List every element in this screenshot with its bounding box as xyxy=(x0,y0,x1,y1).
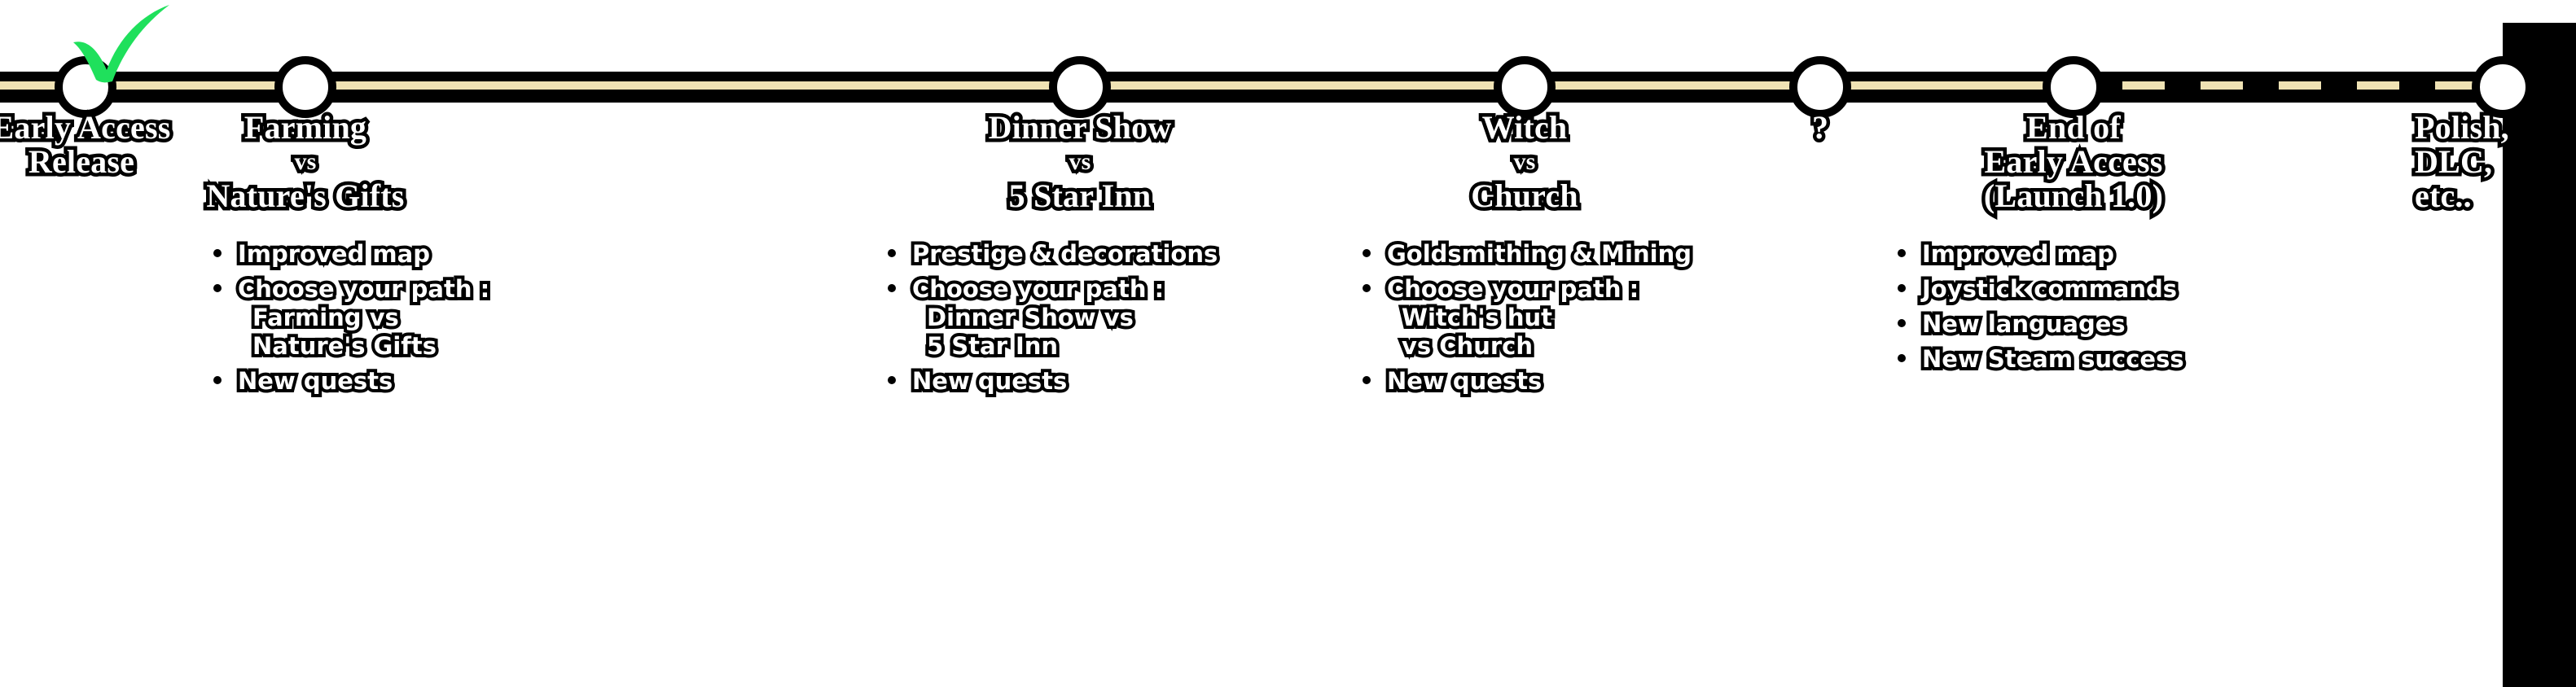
milestone-column-witch-vs-church: Witch vs Church xyxy=(1406,111,1643,213)
list-item-label: Choose your path : xyxy=(1387,275,1639,303)
milestone-bullets-witch-vs-church: Goldsmithing & Mining Choose your path :… xyxy=(1363,240,1692,402)
milestone-title-line: Witch xyxy=(1482,109,1568,146)
list-item-label: New quests xyxy=(238,367,393,395)
list-item-label: Prestige & decorations xyxy=(912,240,1218,268)
milestone-vs-label: vs xyxy=(962,145,1198,179)
list-item: New quests xyxy=(1363,367,1692,396)
bullet-icon xyxy=(213,284,222,292)
bullet-icon xyxy=(1898,354,1906,362)
milestone-bullets-dinner-show-vs-5-star-inn: Prestige & decorations Choose your path … xyxy=(888,240,1218,402)
milestone-title-unknown: ? xyxy=(1702,111,1938,145)
list-item: Goldsmithing & Mining xyxy=(1363,240,1692,269)
milestone-title-line: 5 Star Inn xyxy=(1009,177,1152,214)
list-item: Improved map xyxy=(213,240,489,269)
bullet-icon xyxy=(1898,284,1906,292)
list-item-label: New Steam success xyxy=(1922,345,2184,373)
list-item: New Steam success xyxy=(1898,345,2184,374)
list-item: New quests xyxy=(213,367,489,396)
milestone-column-end-of-early-access: End of Early Access (Launch 1.0) xyxy=(1955,111,2192,213)
milestone-title-line: Farming xyxy=(244,109,366,146)
milestone-title-farming-vs-natures-gifts: Farming vs Nature's Gifts xyxy=(187,111,423,213)
milestone-title-end-of-early-access: End of Early Access (Launch 1.0) xyxy=(1955,111,2192,213)
list-item-subline: vs Church xyxy=(1387,332,1692,361)
milestone-column-dinner-show-vs-5-star-inn: Dinner Show vs 5 Star Inn xyxy=(962,111,1198,213)
milestone-column-unknown: ? xyxy=(1702,111,1938,145)
bullet-icon xyxy=(1898,249,1906,257)
milestone-column-farming-vs-natures-gifts: Farming vs Nature's Gifts xyxy=(187,111,423,213)
bullet-icon xyxy=(888,249,896,257)
bullet-icon xyxy=(1363,376,1371,384)
milestone-title-line: Polish, xyxy=(2415,109,2509,146)
bullet-icon xyxy=(1363,284,1371,292)
list-item: Prestige & decorations xyxy=(888,240,1218,269)
milestone-title-line: Dinner Show xyxy=(989,109,1172,146)
list-item-label: Goldsmithing & Mining xyxy=(1387,240,1692,268)
list-item-subline: Witch's hut xyxy=(1387,304,1692,332)
list-item-subline: 5 Star Inn xyxy=(912,332,1218,361)
bullet-icon xyxy=(213,249,222,257)
list-item-label: New languages xyxy=(1922,310,2126,338)
milestone-title-line: Church xyxy=(1471,177,1578,214)
milestone-title-line: Early Access xyxy=(1984,143,2162,180)
list-item-label: New quests xyxy=(1387,367,1542,395)
milestone-vs-label: vs xyxy=(1406,145,1643,179)
milestone-title-line: DLC, xyxy=(2415,143,2492,180)
milestone-column-early-access-release: Early Access Release xyxy=(0,111,200,179)
list-item: Choose your path : Farming vs Nature's G… xyxy=(213,275,489,361)
milestone-title-line: End of xyxy=(2026,109,2121,146)
list-item-subline: Farming vs xyxy=(238,304,489,332)
bullet-icon xyxy=(1898,319,1906,327)
milestone-column-polish-dlc-etc: Polish, DLC, etc.. xyxy=(2415,111,2576,213)
bullet-icon xyxy=(888,284,896,292)
milestone-title-line: Nature's Gifts xyxy=(206,177,404,214)
bullet-icon xyxy=(213,376,222,384)
milestone-title-line: Early Access xyxy=(0,109,171,146)
list-item: New quests xyxy=(888,367,1218,396)
roadmap-timeline: Early Access Release Farming vs Nature's… xyxy=(0,0,2576,687)
milestone-bullets-farming-vs-natures-gifts: Improved map Choose your path : Farming … xyxy=(213,240,489,402)
milestone-title-polish-dlc-etc: Polish, DLC, etc.. xyxy=(2415,111,2576,213)
list-item-label: New quests xyxy=(912,367,1067,395)
milestone-title-dinner-show-vs-5-star-inn: Dinner Show vs 5 Star Inn xyxy=(962,111,1198,213)
list-item: New languages xyxy=(1898,310,2184,339)
bullet-icon xyxy=(1363,249,1371,257)
timeline-stripe-dashed xyxy=(2044,81,2496,90)
list-item-label: Improved map xyxy=(238,240,430,268)
milestone-title-witch-vs-church: Witch vs Church xyxy=(1406,111,1643,213)
list-item-label: Choose your path : xyxy=(238,275,489,303)
list-item: Joystick commands xyxy=(1898,275,2184,304)
milestone-title-line: Release xyxy=(29,143,134,180)
milestone-title-line: etc.. xyxy=(2415,177,2472,214)
milestone-vs-label: vs xyxy=(187,145,423,179)
milestone-title-early-access-release: Early Access Release xyxy=(0,111,200,179)
list-item-subline: Dinner Show vs xyxy=(912,304,1218,332)
list-item: Choose your path : Dinner Show vs 5 Star… xyxy=(888,275,1218,361)
check-icon xyxy=(68,3,174,85)
list-item-label: Choose your path : xyxy=(912,275,1164,303)
list-item-label: Joystick commands xyxy=(1922,275,2177,303)
bullet-icon xyxy=(888,376,896,384)
milestone-bullets-end-of-early-access: Improved map Joystick commands New langu… xyxy=(1898,240,2184,380)
milestone-title-line: (Launch 1.0) xyxy=(1984,177,2163,214)
list-item: Choose your path : Witch's hut vs Church xyxy=(1363,275,1692,361)
list-item-subline: Nature's Gifts xyxy=(238,332,489,361)
list-item: Improved map xyxy=(1898,240,2184,269)
list-item-label: Improved map xyxy=(1922,240,2114,268)
